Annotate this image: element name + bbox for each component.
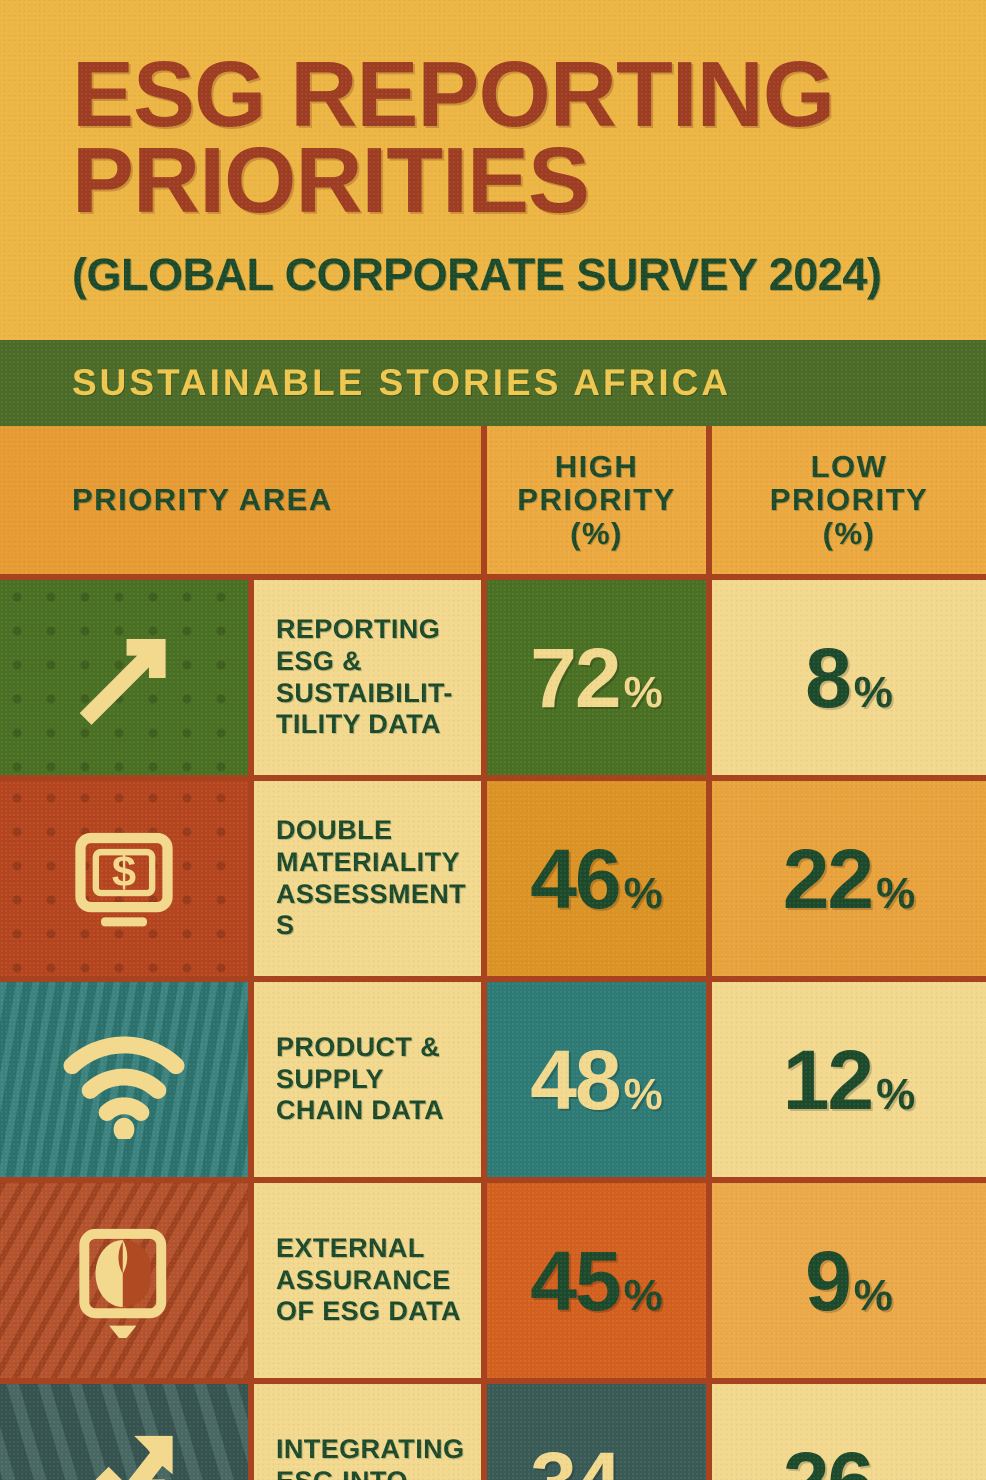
- page-subtitle: (GLOBAL CORPORATE SURVEY 2024): [72, 249, 986, 301]
- row-label: DOUBLE MATERIALITY ASSESSMENTS: [276, 815, 471, 942]
- low-priority-value: 22%: [783, 837, 916, 921]
- table-row: INTEGRATING ESG INTO BUDGETING 34% 26%: [0, 1384, 986, 1480]
- high-priority-value: 34%: [530, 1440, 663, 1480]
- table-row: PRODUCT & SUPPLY CHAIN DATA 48% 12%: [0, 982, 986, 1177]
- row-low-cell: 26%: [712, 1384, 986, 1480]
- high-number: 46: [530, 837, 619, 921]
- low-priority-value: 12%: [783, 1038, 916, 1122]
- infographic-poster: ESG REPORTING PRIORITIES (GLOBAL CORPORA…: [0, 0, 986, 1480]
- high-priority-value: 72%: [530, 636, 663, 720]
- brand-name: SUSTAINABLE STORIES AFRICA: [72, 362, 731, 404]
- row-icon-cell: $: [0, 781, 248, 976]
- row-label-cell: PRODUCT & SUPPLY CHAIN DATA: [254, 982, 481, 1177]
- row-label: EXTERNAL ASSURANCE OF ESG DATA: [276, 1233, 471, 1329]
- table-header-row: PRIORITY AREA HIGH PRIORITY (%) LOW PRIO…: [0, 426, 986, 574]
- low-symbol: %: [854, 1274, 893, 1318]
- row-icon-cell: [0, 1183, 248, 1378]
- low-symbol: %: [876, 872, 915, 916]
- row-low-cell: 8%: [712, 580, 986, 775]
- row-high-cell: 45%: [487, 1183, 706, 1378]
- high-number: 45: [530, 1239, 619, 1323]
- high-priority-value: 45%: [530, 1239, 663, 1323]
- header-high-line3: (%): [570, 516, 623, 551]
- svg-text:$: $: [112, 848, 136, 896]
- title-line-1: ESG REPORTING: [72, 52, 932, 138]
- high-number: 48: [530, 1038, 619, 1122]
- row-high-cell: 72%: [487, 580, 706, 775]
- low-symbol: %: [854, 671, 893, 715]
- header-cell-low-priority: LOW PRIORITY (%): [712, 426, 986, 574]
- row-label: INTEGRATING ESG INTO BUDGETING: [276, 1434, 471, 1480]
- low-number: 12: [783, 1038, 872, 1122]
- high-symbol: %: [624, 1475, 663, 1480]
- page-title: ESG REPORTING PRIORITIES: [72, 52, 932, 223]
- row-low-cell: 22%: [712, 781, 986, 976]
- low-priority-value: 26%: [783, 1440, 916, 1480]
- row-label-cell: INTEGRATING ESG INTO BUDGETING: [254, 1384, 481, 1480]
- header-cell-high-priority: HIGH PRIORITY (%): [487, 426, 706, 574]
- trending-up-arrow-icon: [60, 614, 188, 742]
- low-number: 9: [805, 1239, 850, 1323]
- low-priority-value: 8%: [805, 636, 893, 720]
- row-label: REPORTING ESG & SUSTAIBILIT-TILITY DATA: [276, 614, 471, 741]
- high-symbol: %: [624, 1073, 663, 1117]
- header-label-low: LOW PRIORITY (%): [770, 450, 928, 549]
- header-label-area: PRIORITY AREA: [72, 483, 333, 516]
- high-priority-value: 46%: [530, 837, 663, 921]
- low-number: 8: [805, 636, 850, 720]
- header-label-high: HIGH PRIORITY (%): [517, 450, 675, 549]
- brand-banner: SUSTAINABLE STORIES AFRICA: [0, 340, 986, 426]
- wifi-signal-icon: [59, 1021, 189, 1139]
- table-row: REPORTING ESG & SUSTAIBILIT-TILITY DATA …: [0, 580, 986, 775]
- growth-chart-arrow-icon: [58, 1418, 190, 1480]
- title-block: ESG REPORTING PRIORITIES (GLOBAL CORPORA…: [0, 0, 986, 340]
- row-low-cell: 12%: [712, 982, 986, 1177]
- row-icon-cell: [0, 580, 248, 775]
- row-label-cell: EXTERNAL ASSURANCE OF ESG DATA: [254, 1183, 481, 1378]
- header-low-line1: LOW: [811, 449, 888, 484]
- row-low-cell: 9%: [712, 1183, 986, 1378]
- row-icon-cell: [0, 1384, 248, 1480]
- high-number: 34: [530, 1440, 619, 1480]
- row-high-cell: 48%: [487, 982, 706, 1177]
- header-high-line1: HIGH: [555, 449, 639, 484]
- low-number: 26: [783, 1440, 872, 1480]
- row-high-cell: 46%: [487, 781, 706, 976]
- high-number: 72: [530, 636, 619, 720]
- header-low-line3: (%): [823, 516, 876, 551]
- low-symbol: %: [876, 1475, 915, 1480]
- row-high-cell: 34%: [487, 1384, 706, 1480]
- header-low-line2: PRIORITY: [770, 482, 928, 517]
- low-priority-value: 9%: [805, 1239, 893, 1323]
- row-label: PRODUCT & SUPPLY CHAIN DATA: [276, 1032, 471, 1128]
- high-symbol: %: [624, 872, 663, 916]
- header-high-line2: PRIORITY: [517, 482, 675, 517]
- monitor-dollar-icon: $: [60, 815, 188, 943]
- high-symbol: %: [624, 671, 663, 715]
- title-line-2: PRIORITIES: [72, 138, 932, 224]
- low-number: 22: [783, 837, 872, 921]
- high-symbol: %: [624, 1274, 663, 1318]
- row-label-cell: DOUBLE MATERIALITY ASSESSMENTS: [254, 781, 481, 976]
- header-cell-priority-area: PRIORITY AREA: [0, 426, 481, 574]
- row-icon-cell: [0, 982, 248, 1177]
- low-symbol: %: [876, 1073, 915, 1117]
- table-row: $ DOUBLE MATERIALITY ASSESSMENTS 46% 22%: [0, 781, 986, 976]
- high-priority-value: 48%: [530, 1038, 663, 1122]
- monitor-pie-chart-icon: [62, 1217, 186, 1345]
- row-label-cell: REPORTING ESG & SUSTAIBILIT-TILITY DATA: [254, 580, 481, 775]
- table-row: EXTERNAL ASSURANCE OF ESG DATA 45% 9%: [0, 1183, 986, 1378]
- priorities-table: PRIORITY AREA HIGH PRIORITY (%) LOW PRIO…: [0, 426, 986, 1480]
